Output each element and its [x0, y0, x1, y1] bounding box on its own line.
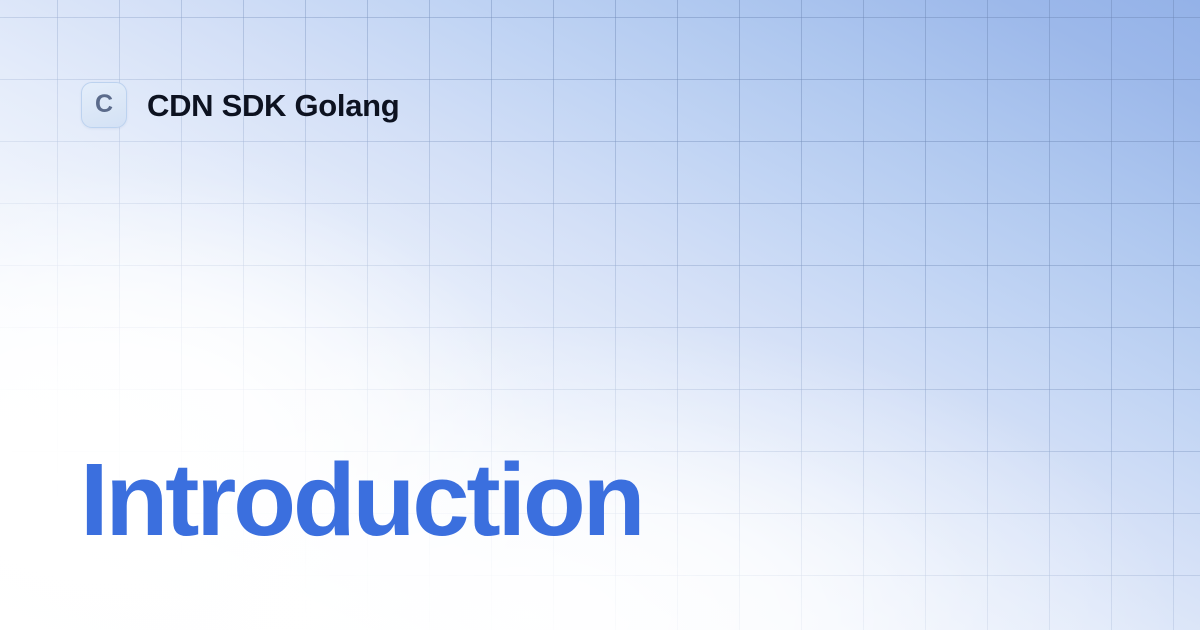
- brand-name: CDN SDK Golang: [147, 90, 399, 121]
- brand-badge: C: [81, 82, 127, 128]
- brand-letter-c-icon: C: [95, 92, 113, 117]
- page-title: Introduction: [80, 448, 642, 551]
- card-content: C CDN SDK Golang Introduction: [0, 0, 1200, 630]
- brand-lockup: C CDN SDK Golang: [81, 82, 399, 128]
- og-card: C CDN SDK Golang Introduction: [0, 0, 1200, 630]
